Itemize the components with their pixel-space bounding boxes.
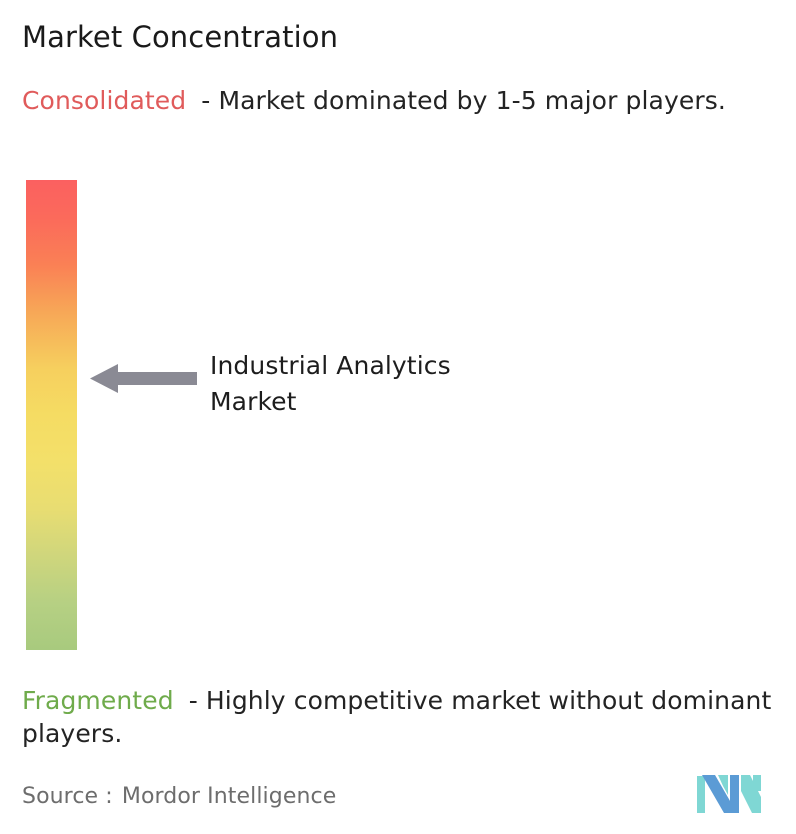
- source-value: Mordor Intelligence: [122, 784, 336, 809]
- source-attribution: Source : Mordor Intelligence: [22, 783, 336, 811]
- page-title: Market Concentration: [22, 18, 338, 56]
- source-label: Source :: [22, 784, 113, 809]
- fragmented-legend: Fragmented - Highly competitive market w…: [22, 684, 782, 750]
- consolidated-legend: Consolidated - Market dominated by 1-5 m…: [22, 84, 774, 117]
- mordor-intelligence-logo: [697, 771, 763, 813]
- fragmented-keyword: Fragmented: [22, 686, 174, 715]
- consolidated-description: - Market dominated by 1-5 major players.: [201, 86, 726, 115]
- consolidated-keyword: Consolidated: [22, 86, 186, 115]
- concentration-gradient-bar: [26, 180, 77, 650]
- market-annotation-label: Industrial Analytics Market: [210, 348, 540, 420]
- arrow-left-icon: [90, 361, 197, 396]
- market-concentration-infographic: Market Concentration Consolidated - Mark…: [0, 0, 796, 834]
